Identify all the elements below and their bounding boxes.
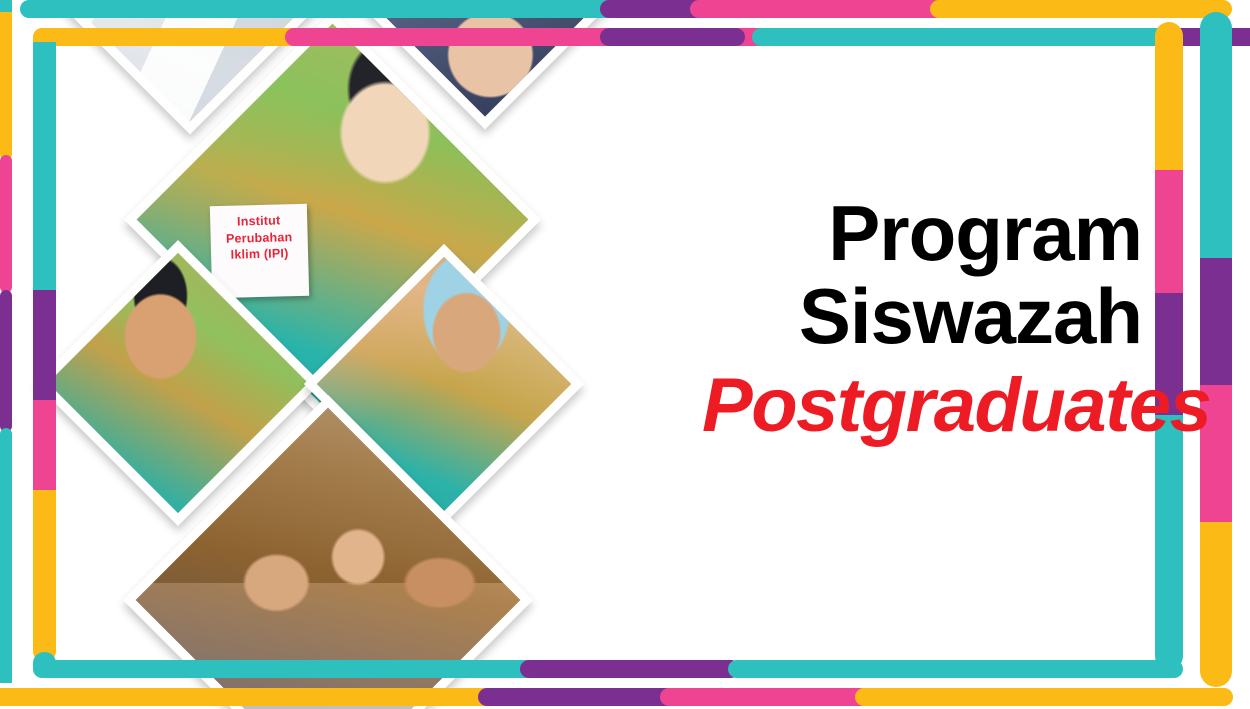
left-inner-bar-yellow — [33, 490, 56, 662]
right-inner-bar-yellow — [1155, 22, 1183, 172]
left-outer-bar-purple — [0, 290, 12, 432]
headline-block: Program Siswazah Postgraduates — [702, 192, 1142, 448]
left-outer-bar-pink — [0, 155, 12, 293]
left-inner-bar-pink — [33, 400, 56, 492]
headline-line-1: Program — [702, 192, 1142, 275]
right-outer-bar-teal — [1200, 12, 1232, 262]
right-inner-bar-teal — [1155, 415, 1183, 670]
left-inner-bar-purple — [33, 290, 56, 402]
institut-sign: Institut Perubahan Iklim (IPI) — [210, 204, 309, 299]
bottom-inner-bar-teal-2 — [728, 660, 1183, 678]
top-inner-bar-purple — [600, 28, 745, 46]
bottom-outer-bar-purple — [478, 688, 678, 706]
right-outer-bar-yellow — [1200, 522, 1232, 687]
bottom-outer-bar-yellow — [0, 688, 520, 706]
left-outer-bar-teal-bottom — [0, 428, 12, 683]
top-outer-bar-teal — [20, 0, 690, 18]
headline-subtitle: Postgraduates — [702, 363, 1142, 448]
institut-sign-line3: Iklim (IPI) — [211, 245, 308, 264]
top-inner-bar-teal — [752, 28, 1172, 46]
left-outer-bar-yellow — [0, 12, 12, 160]
bottom-inner-bar-purple — [520, 660, 740, 678]
right-inner-bar-pink — [1155, 170, 1183, 295]
slide-canvas: Institut Perubahan Iklim (IPI) — [0, 0, 1250, 709]
headline-line-2: Siswazah — [702, 275, 1142, 358]
bottom-outer-bar-yellow-2 — [855, 688, 1233, 706]
photo-collage: Institut Perubahan Iklim (IPI) — [0, 0, 640, 709]
top-outer-bar-yellow — [930, 0, 1232, 18]
left-inner-bar-teal — [33, 42, 56, 292]
bottom-outer-bar-pink — [660, 688, 870, 706]
